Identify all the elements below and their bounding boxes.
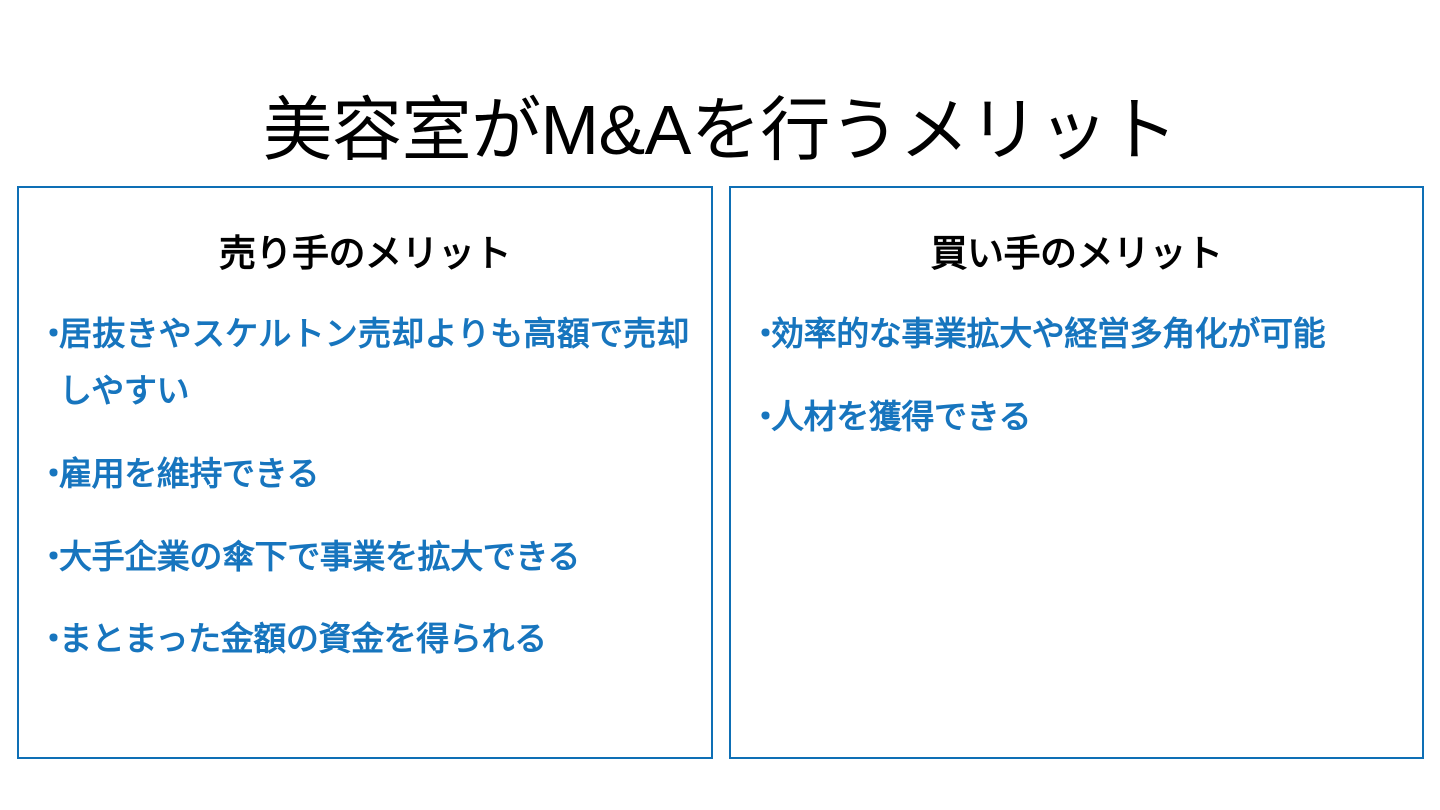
page-title: 美容室がM&Aを行うメリット: [0, 91, 1440, 169]
bullet-dot-icon: ・: [37, 529, 59, 586]
list-item-label: 効率的な事業拡大や経営多角化が可能: [771, 306, 1400, 363]
list-item-label: 雇用を維持できる: [59, 446, 689, 503]
panel-seller-bullet-list: ・ 居抜きやスケルトン売却よりも高額で売却しやすい ・ 雇用を維持できる ・ 大…: [19, 276, 711, 668]
list-item: ・ 効率的な事業拡大や経営多角化が可能: [749, 306, 1400, 363]
panel-seller-heading: 売り手のメリット: [19, 188, 711, 276]
comparison-panels: 売り手のメリット ・ 居抜きやスケルトン売却よりも高額で売却しやすい ・ 雇用を…: [17, 186, 1424, 759]
list-item: ・ 居抜きやスケルトン売却よりも高額で売却しやすい: [37, 306, 689, 420]
bullet-dot-icon: ・: [37, 306, 59, 363]
bullet-dot-icon: ・: [37, 611, 59, 668]
panel-seller-merits: 売り手のメリット ・ 居抜きやスケルトン売却よりも高額で売却しやすい ・ 雇用を…: [17, 186, 713, 759]
list-item: ・ 大手企業の傘下で事業を拡大できる: [37, 529, 689, 586]
bullet-dot-icon: ・: [749, 306, 771, 363]
panel-buyer-bullet-list: ・ 効率的な事業拡大や経営多角化が可能 ・ 人材を獲得できる: [731, 276, 1422, 446]
bullet-dot-icon: ・: [749, 389, 771, 446]
bullet-dot-icon: ・: [37, 446, 59, 503]
list-item-label: 大手企業の傘下で事業を拡大できる: [59, 529, 689, 586]
list-item: ・ まとまった金額の資金を得られる: [37, 611, 689, 668]
list-item: ・ 人材を獲得できる: [749, 389, 1400, 446]
panel-buyer-merits: 買い手のメリット ・ 効率的な事業拡大や経営多角化が可能 ・ 人材を獲得できる: [729, 186, 1424, 759]
list-item-label: 人材を獲得できる: [771, 389, 1400, 446]
list-item-label: まとまった金額の資金を得られる: [59, 611, 689, 668]
panel-buyer-heading: 買い手のメリット: [731, 188, 1422, 276]
list-item: ・ 雇用を維持できる: [37, 446, 689, 503]
list-item-label: 居抜きやスケルトン売却よりも高額で売却しやすい: [59, 306, 689, 420]
